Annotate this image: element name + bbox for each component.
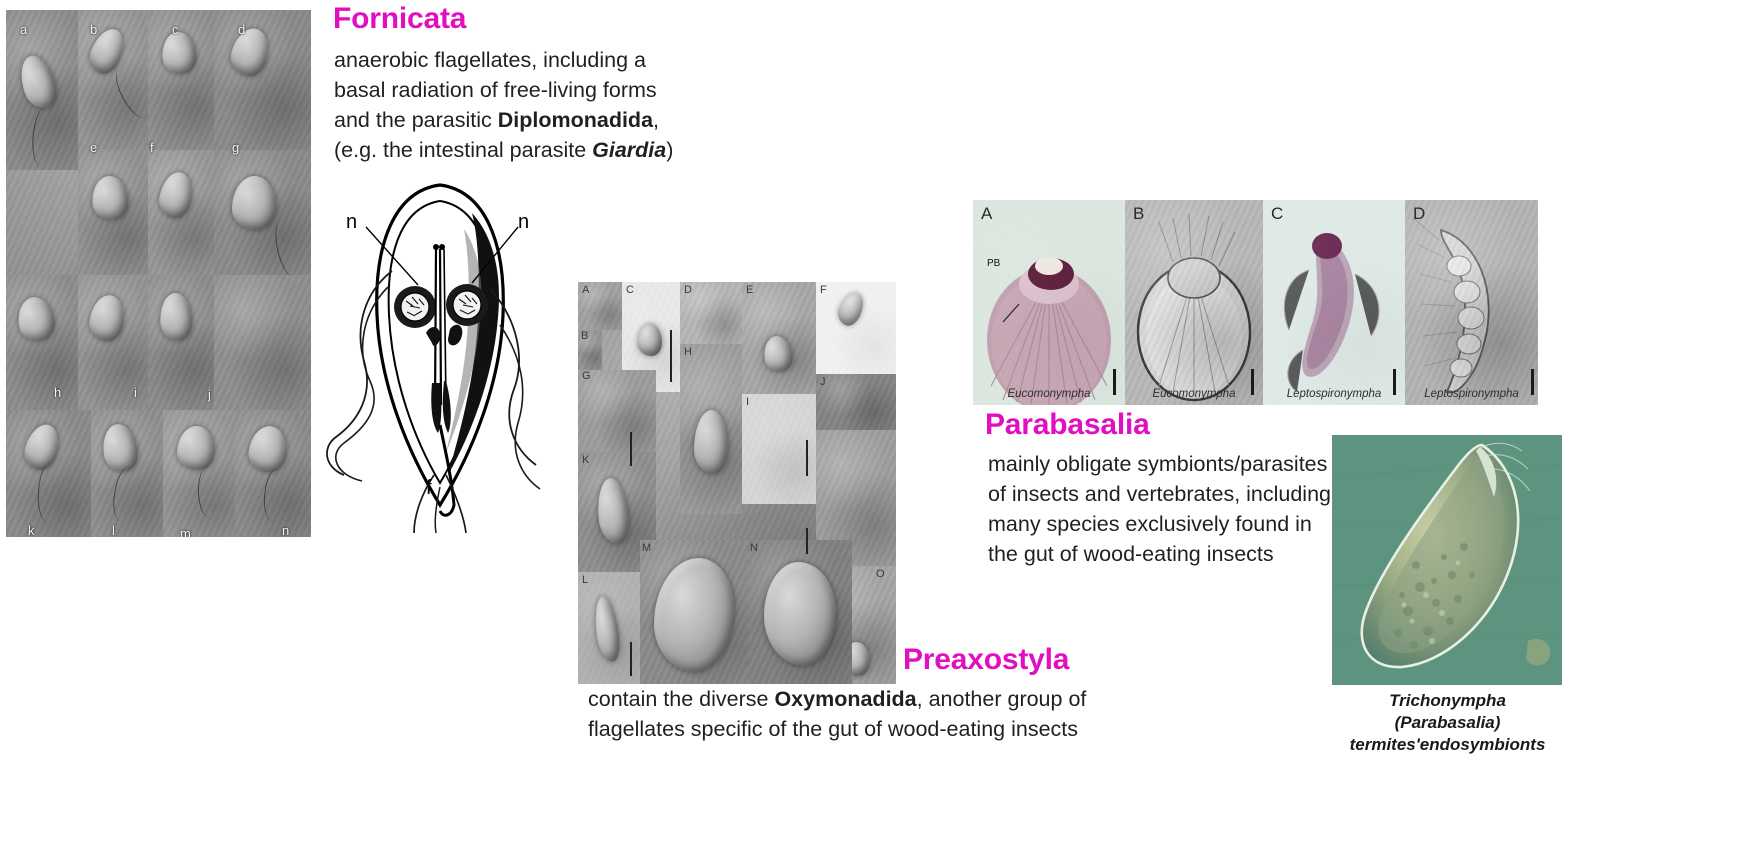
- grid-cell-k: [6, 410, 91, 537]
- parabasalia-heading: Parabasalia: [985, 408, 1150, 442]
- grid-cell-k-top: [214, 275, 311, 410]
- parabasalia-line-2: of insects and vertebrates, including: [988, 479, 1331, 509]
- preax-panel-J: [816, 374, 896, 430]
- grid-cell-f: [148, 150, 214, 275]
- preax-panel-G: [578, 370, 656, 452]
- grid-cell-n: [235, 410, 311, 537]
- grid-label-n: n: [282, 523, 289, 537]
- flagellate-grid-figure: a b c d e f g h i j k l m n: [6, 10, 311, 537]
- trichonympha-caption-line-3: termites'endosymbionts: [1330, 734, 1565, 756]
- trichonympha-caption-line-1: Trichonympha: [1330, 690, 1565, 712]
- scalebar-2: [670, 330, 672, 382]
- preax-panel-I: [742, 394, 816, 504]
- fornicata-line-1: anaerobic flagellates, including a: [334, 45, 673, 75]
- grid-label-m: m: [180, 526, 191, 537]
- parabasalia-panel-C: C Leptospironympha: [1263, 200, 1405, 405]
- grid-cell-m: [163, 410, 235, 537]
- slide-canvas: a b c d e f g h i j k l m n Fornicata an…: [0, 0, 1762, 854]
- preax-panel-H: [680, 344, 742, 514]
- preax-label-D: D: [684, 284, 692, 296]
- trichonympha-caption-line-2: (Parabasalia): [1330, 712, 1565, 734]
- preax-panel-M1: [640, 540, 748, 684]
- scalebar-1: [630, 432, 632, 466]
- grid-label-c: c: [172, 22, 179, 37]
- preax-label-F: F: [820, 284, 827, 296]
- grid-cell-b: [78, 10, 148, 150]
- preax-label-A: A: [582, 284, 589, 296]
- fornicata-paragraph: anaerobic flagellates, including a basal…: [334, 45, 673, 165]
- grid-label-j: j: [208, 387, 211, 402]
- trichonympha-svg: [1332, 435, 1562, 685]
- scalebar-4: [806, 528, 808, 554]
- preax-label-O: O: [876, 568, 885, 580]
- fornicata-heading: Fornicata: [333, 2, 466, 36]
- grid-cell-c: [148, 10, 214, 150]
- preax-label-B: B: [581, 330, 588, 342]
- giardia-line-drawing: n n f: [322, 175, 557, 535]
- grid-label-i: i: [134, 385, 137, 400]
- parabasalia-label-D: D: [1413, 204, 1425, 224]
- grid-label-g: g: [232, 140, 239, 155]
- parabasalia-panel-A: PB A Eucomonympha: [973, 200, 1125, 405]
- giardia-label-f: f: [426, 477, 432, 500]
- trichonympha-micrograph: [1332, 435, 1562, 685]
- giardia-label-n-left: n: [346, 211, 357, 234]
- grid-cell-a: [6, 10, 78, 170]
- parabasalia-scalebar-D: [1531, 369, 1534, 395]
- parabasalia-label-B: B: [1133, 204, 1144, 224]
- preax-label-K: K: [582, 454, 589, 466]
- preaxostyla-line-2: flagellates specific of the gut of wood-…: [588, 714, 1086, 744]
- preaxostyla-paragraph: contain the diverse Oxymonadida, another…: [588, 684, 1086, 744]
- scalebar-5: [630, 642, 632, 676]
- parabasalia-label-C: C: [1271, 204, 1283, 224]
- grid-cell-g: [214, 150, 311, 275]
- preaxostyla-line-1: contain the diverse Oxymonadida, another…: [588, 684, 1086, 714]
- grid-cell-d: [214, 10, 311, 150]
- preaxostyla-composite-figure: A B C D E F G H I J K L M N O: [578, 282, 896, 684]
- parabasalia-line-4: the gut of wood-eating insects: [988, 539, 1331, 569]
- preax-label-J: J: [820, 376, 826, 388]
- grid-cell-e: [78, 150, 148, 275]
- parabasalia-scalebar-A: [1113, 369, 1116, 395]
- parabasalia-line-1: mainly obligate symbionts/parasites: [988, 449, 1331, 479]
- preax-panel-M2: [748, 540, 852, 684]
- preax-label-H: H: [684, 346, 692, 358]
- parabasalia-paragraph: mainly obligate symbionts/parasites of i…: [988, 449, 1331, 569]
- grid-label-f: f: [150, 140, 154, 155]
- preax-label-L: L: [582, 574, 588, 586]
- preax-label-E: E: [746, 284, 753, 296]
- grid-label-a: a: [20, 22, 27, 37]
- parabasalia-panel-B: B Eucomonympha: [1125, 200, 1263, 405]
- scalebar-3: [806, 440, 808, 476]
- parabasalia-caption-C: Leptospironympha: [1263, 388, 1405, 400]
- preax-panel-F: [816, 282, 896, 374]
- grid-label-d: d: [238, 22, 245, 37]
- preax-label-N: N: [750, 542, 758, 554]
- preax-label-M: M: [642, 542, 651, 554]
- trichonympha-caption: Trichonympha (Parabasalia) termites'endo…: [1330, 690, 1565, 756]
- fornicata-line-4: (e.g. the intestinal parasite Giardia): [334, 135, 673, 165]
- giardia-label-n-right: n: [518, 211, 529, 234]
- parabasalia-scalebar-B: [1251, 369, 1254, 395]
- preaxostyla-heading: Preaxostyla: [903, 643, 1069, 677]
- preax-label-C: C: [626, 284, 634, 296]
- parabasalia-line-3: many species exclusively found in: [988, 509, 1331, 539]
- grid-label-b: b: [90, 22, 97, 37]
- grid-cell-i: [78, 275, 148, 410]
- fornicata-line-3: and the parasitic Diplomonadida,: [334, 105, 673, 135]
- pb-annotation: PB: [987, 258, 1000, 269]
- preax-panel-E: [742, 282, 816, 394]
- parabasalia-four-panel-figure: PB A Eucomonympha B Eucomonympha: [973, 200, 1538, 405]
- grid-label-k: k: [28, 523, 35, 537]
- grid-label-h: h: [54, 385, 61, 400]
- preax-label-G: G: [582, 370, 591, 382]
- parabasalia-caption-B: Eucomonympha: [1125, 388, 1263, 400]
- grid-label-l: l: [112, 523, 115, 537]
- parabasalia-panel-D: D Leptospironympha: [1405, 200, 1538, 405]
- parabasalia-caption-D: Leptospironympha: [1405, 388, 1538, 400]
- grid-cell-h: [6, 275, 78, 410]
- fornicata-line-2: basal radiation of free-living forms: [334, 75, 673, 105]
- grid-cell-l: [91, 410, 163, 537]
- parabasalia-label-A: A: [981, 204, 992, 224]
- parabasalia-caption-A: Eucomonympha: [973, 388, 1125, 400]
- parabasalia-scalebar-C: [1393, 369, 1396, 395]
- preax-label-I: I: [746, 396, 749, 408]
- grid-cell-j: [148, 275, 214, 410]
- grid-label-e: e: [90, 140, 97, 155]
